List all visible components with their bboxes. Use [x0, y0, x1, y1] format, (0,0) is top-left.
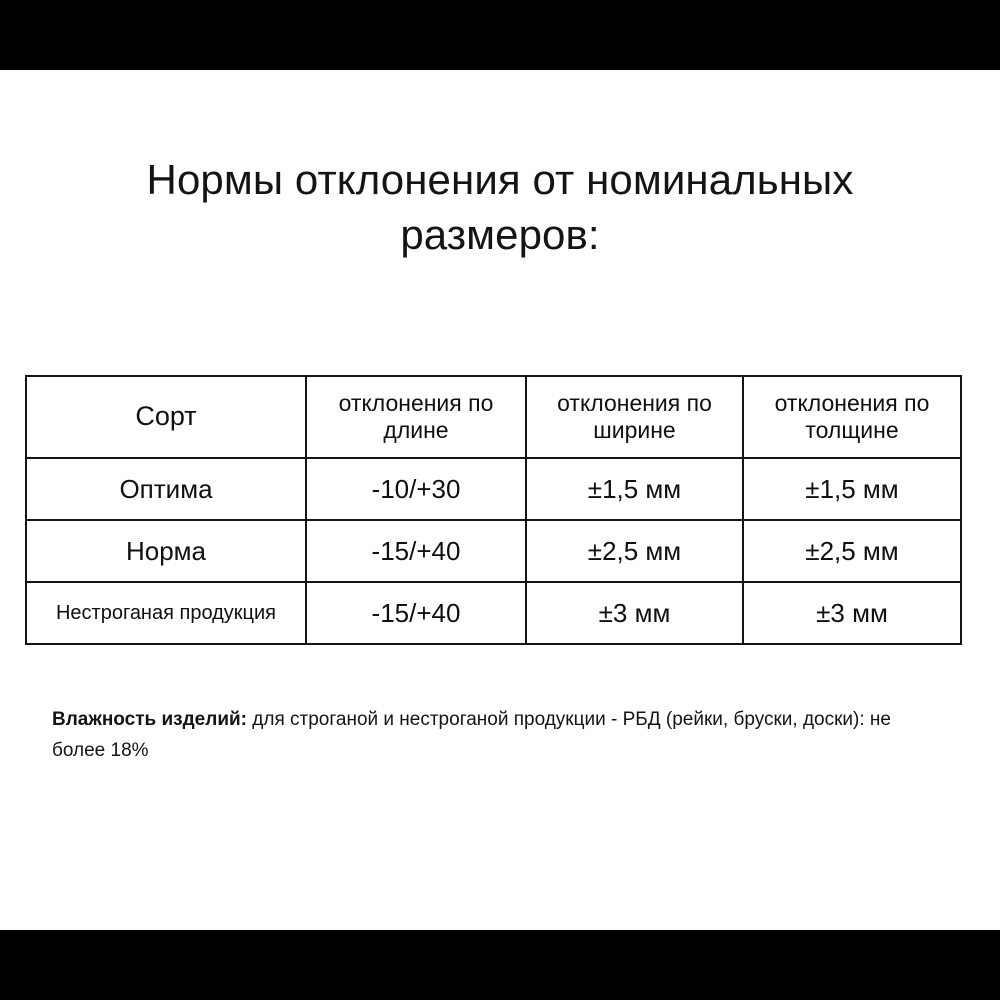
page-title: Нормы отклонения от номинальных размеров…: [60, 152, 940, 263]
cell-length-deviation: -10/+30: [306, 458, 526, 520]
column-header-thickness-deviation: отклонения по толщине: [743, 376, 961, 458]
letterbox-bar-top: [0, 0, 1000, 70]
table-row: Оптима -10/+30 ±1,5 мм ±1,5 мм: [26, 458, 961, 520]
cell-grade: Нестроганая продукция: [26, 582, 306, 644]
table-row: Норма -15/+40 ±2,5 мм ±2,5 мм: [26, 520, 961, 582]
cell-width-deviation: ±3 мм: [526, 582, 743, 644]
cell-grade: Оптима: [26, 458, 306, 520]
cell-grade: Норма: [26, 520, 306, 582]
cell-thickness-deviation: ±1,5 мм: [743, 458, 961, 520]
table-row: Нестроганая продукция -15/+40 ±3 мм ±3 м…: [26, 582, 961, 644]
column-header-width-deviation: отклонения по ширине: [526, 376, 743, 458]
moisture-footnote: Влажность изделий: для строганой и нестр…: [52, 705, 932, 767]
column-header-length-deviation: отклонения по длине: [306, 376, 526, 458]
document-page: Нормы отклонения от номинальных размеров…: [0, 70, 1000, 930]
moisture-footnote-label: Влажность изделий:: [52, 709, 247, 730]
cell-length-deviation: -15/+40: [306, 582, 526, 644]
cell-length-deviation: -15/+40: [306, 520, 526, 582]
column-header-grade: Сорт: [26, 376, 306, 458]
cell-width-deviation: ±1,5 мм: [526, 458, 743, 520]
deviation-norms-table-wrapper: Сорт отклонения по длине отклонения по ш…: [25, 375, 960, 645]
letterbox-bar-bottom: [0, 930, 1000, 1000]
cell-thickness-deviation: ±2,5 мм: [743, 520, 961, 582]
screenshot-canvas: Нормы отклонения от номинальных размеров…: [0, 0, 1000, 1000]
deviation-norms-table: Сорт отклонения по длине отклонения по ш…: [25, 375, 962, 645]
table-header-row: Сорт отклонения по длине отклонения по ш…: [26, 376, 961, 458]
cell-thickness-deviation: ±3 мм: [743, 582, 961, 644]
cell-width-deviation: ±2,5 мм: [526, 520, 743, 582]
